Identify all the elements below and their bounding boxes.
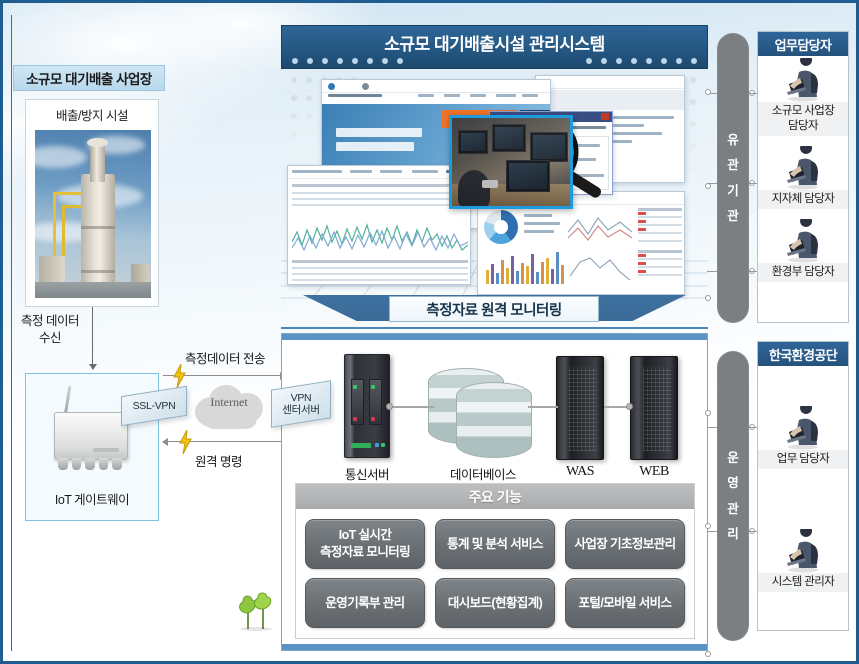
smokestack-photo	[35, 130, 151, 298]
pill-char-4: 관	[727, 210, 739, 223]
pill-char-1: 유	[727, 134, 739, 147]
web-rack-icon	[630, 356, 678, 460]
pill-char-2: 영	[727, 477, 739, 490]
connector-stub	[707, 531, 717, 532]
function-dashboard[interactable]: 대시보드(현황집계)	[435, 578, 555, 628]
gateway-caption: IoT 게이트웨이	[26, 489, 158, 508]
ssl-vpn-node: SSL-VPN	[121, 391, 187, 421]
bar-chart-icon	[486, 250, 564, 284]
small-business-panel: 소규모 대기배출 사업장 배출/방지 시설 측정 데이터 수신	[9, 15, 173, 651]
function-operation-log[interactable]: 운영기록부 관리	[305, 578, 425, 628]
vpn-center-server-node: VPN 센터서버	[271, 385, 331, 423]
operation-management-pill: 운 영 관 리	[717, 351, 749, 641]
diagram-canvas: 소규모 대기배출 사업장 배출/방지 시설 측정 데이터 수신	[0, 0, 859, 664]
pill-char-3: 관	[727, 503, 739, 516]
person-laptop-icon	[758, 217, 848, 263]
uplink-label: 측정데이터 전송	[185, 348, 265, 367]
pill-char-3: 기	[727, 185, 739, 198]
donut-chart-icon	[484, 210, 518, 244]
function-statistics-analysis[interactable]: 통계 및 분석 서비스	[435, 519, 555, 569]
person-label: 소규모 사업장 담당자	[758, 102, 848, 136]
monitoring-banner-label: 측정자료 원격 모니터링	[389, 296, 599, 322]
business-officer-group: 업무담당자 소규모 사업장 담당자	[757, 31, 849, 323]
keco-group: 한국환경공단 업무 담당자	[757, 341, 849, 631]
keco-header: 한국환경공단	[758, 342, 848, 366]
internet-label: Internet	[191, 395, 267, 410]
downlink-label: 원격 명령	[195, 451, 242, 470]
link-server-db	[390, 406, 434, 408]
centerbox-connector-dot	[705, 410, 711, 416]
system-title: 소규모 대기배출시설 관리시스템	[282, 30, 707, 55]
person-card-ministry-environment[interactable]: 환경부 담당자	[758, 217, 848, 282]
person-label: 환경부 담당자	[758, 263, 848, 282]
link-db-was	[528, 406, 558, 408]
collage-connector-dot-3	[705, 89, 711, 95]
comm-server-icon	[344, 354, 390, 458]
person-label: 시스템 관리자	[758, 573, 848, 592]
pill-char-2: 관	[727, 159, 739, 172]
left-divider	[11, 15, 12, 651]
main-functions-panel: 주요 기능 IoT 실시간 측정자료 모니터링 통계 및 분석 서비스 사업장 …	[295, 483, 695, 639]
business-officer-header: 업무담당자	[758, 32, 848, 56]
centerbox-connector-dot-2	[705, 523, 711, 529]
pill-char-4: 리	[727, 528, 739, 541]
function-portal-mobile[interactable]: 포털/모바일 서비스	[565, 578, 685, 628]
functions-grid: IoT 실시간 측정자료 모니터링 통계 및 분석 서비스 사업장 기초정보관리…	[296, 509, 694, 638]
was-rack-icon	[556, 356, 604, 460]
bottom-connector-dot	[705, 651, 711, 657]
tree-icon	[235, 591, 279, 631]
facility-to-gateway-arrow	[92, 307, 93, 369]
person-card-keco-officer[interactable]: 업무 담당자	[758, 404, 848, 469]
monitoring-banner: 측정자료 원격 모니터링	[281, 295, 708, 329]
connector-stub	[707, 427, 717, 428]
comm-server-label: 통신서버	[334, 464, 400, 483]
system-title-banner: 소규모 대기배출시설 관리시스템	[281, 25, 708, 69]
related-agencies-pill: 유 관 기 관	[717, 33, 749, 323]
function-iot-monitoring[interactable]: IoT 실시간 측정자료 모니터링	[305, 519, 425, 569]
emission-facility-card: 배출/방지 시설	[25, 99, 159, 307]
connector-stub	[707, 271, 717, 272]
person-laptop-icon	[758, 56, 848, 102]
receive-data-label: 측정 데이터 수신	[17, 313, 83, 347]
system-screenshot-collage	[281, 69, 708, 299]
facility-caption: 배출/방지 시설	[26, 100, 158, 128]
person-card-system-admin[interactable]: 시스템 관리자	[758, 527, 848, 592]
person-laptop-icon	[758, 404, 848, 450]
database-label: 데이터베이스	[430, 464, 536, 483]
collage-connector-dot	[705, 295, 711, 301]
database-icon	[428, 368, 538, 460]
control-room-photo	[449, 115, 573, 209]
vpn-center-label: VPN 센터서버	[282, 392, 319, 416]
collage-connector-dot-2	[705, 183, 711, 189]
web-label: WEB	[620, 464, 688, 480]
left-panel-title: 소규모 대기배출 사업장	[13, 65, 165, 91]
person-laptop-icon	[758, 527, 848, 573]
person-label: 지자체 담당자	[758, 190, 848, 209]
was-label: WAS	[546, 464, 614, 480]
person-label: 업무 담당자	[758, 450, 848, 469]
functions-header: 주요 기능	[296, 484, 694, 509]
function-workplace-basic-info[interactable]: 사업장 기초정보관리	[565, 519, 685, 569]
gateway-device-icon	[54, 412, 128, 460]
gateway-ports	[58, 458, 122, 470]
ssl-vpn-label: SSL-VPN	[133, 400, 176, 412]
person-card-small-business[interactable]: 소규모 사업장 담당자	[758, 56, 848, 136]
pill-char-1: 운	[727, 452, 739, 465]
person-card-local-government[interactable]: 지자체 담당자	[758, 144, 848, 209]
screenshot-trend-chart	[287, 165, 471, 285]
person-laptop-icon	[758, 144, 848, 190]
internet-cloud: Internet	[191, 381, 267, 431]
